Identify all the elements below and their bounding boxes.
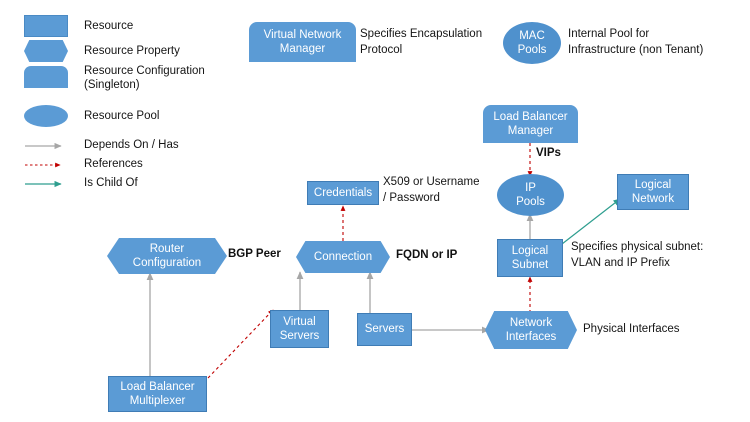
node-credentials[interactable]: Credentials [307, 181, 379, 205]
edge-lb-multiplexer-to-virtual-servers [208, 310, 273, 378]
annotation-credentials: X509 or Username / Password [383, 175, 480, 206]
node-load-balancer-manager[interactable]: Load Balancer Manager [483, 105, 578, 143]
legend-swatch-resource-property [24, 40, 68, 62]
legend-line-is-child-of [24, 177, 68, 189]
legend-item-resource-configuration: Resource Configuration (Singleton) [24, 64, 205, 93]
ellipse-icon [24, 105, 68, 127]
annotation-network-interfaces: Physical Interfaces [583, 322, 680, 338]
node-logical-subnet[interactable]: Logical Subnet [497, 239, 563, 277]
hexagon-icon [24, 40, 68, 62]
legend-swatch-resource [24, 15, 68, 37]
legend-item-is-child-of: Is Child Of [24, 176, 138, 190]
node-logical-network[interactable]: Logical Network [617, 174, 689, 210]
legend-item-resource-pool: Resource Pool [24, 105, 159, 127]
node-router-configuration[interactable]: Router Configuration [107, 238, 227, 274]
legend-label-depends-on: Depends On / Has [84, 138, 179, 152]
edge-label-vips: VIPs [536, 147, 561, 159]
edge-label-bgp-peer: BGP Peer [228, 248, 281, 260]
node-mac-pools[interactable]: MAC Pools [503, 22, 561, 64]
legend-line-depends-on [24, 139, 68, 151]
node-ip-pools[interactable]: IP Pools [497, 174, 564, 216]
node-virtual-network-manager[interactable]: Virtual Network Manager [249, 22, 356, 62]
node-servers[interactable]: Servers [357, 313, 412, 346]
legend-swatch-resource-configuration [24, 66, 68, 88]
legend-item-references: References [24, 157, 143, 171]
legend-label-resource: Resource [84, 19, 133, 33]
legend-item-resource: Resource [24, 15, 133, 37]
arrow-solid-teal-icon [24, 178, 68, 190]
edge-logical-subnet-to-logical-network [562, 199, 620, 244]
legend-line-references [24, 158, 68, 170]
legend-label-is-child-of: Is Child Of [84, 176, 138, 190]
legend-label-resource-property: Resource Property [84, 44, 180, 58]
rectangle-icon [24, 15, 68, 37]
legend-label-resource-pool: Resource Pool [84, 109, 159, 123]
legend-label-references: References [84, 157, 143, 171]
diagram-canvas: Resource Resource Property Resource Conf… [0, 0, 750, 422]
edge-label-fqdn-or-ip: FQDN or IP [396, 249, 457, 261]
legend-label-resource-configuration: Resource Configuration (Singleton) [84, 64, 205, 93]
annotation-encapsulation-protocol: Specifies Encapsulation Protocol [360, 27, 482, 58]
node-network-interfaces[interactable]: Network Interfaces [485, 311, 577, 349]
node-load-balancer-multiplexer[interactable]: Load Balancer Multiplexer [108, 376, 207, 412]
node-connection[interactable]: Connection [296, 241, 390, 273]
legend-item-depends-on: Depends On / Has [24, 138, 179, 152]
annotation-internal-pool: Internal Pool for Infrastructure (non Te… [568, 27, 703, 58]
round-top-rectangle-icon [24, 66, 68, 88]
annotation-logical-subnet: Specifies physical subnet: VLAN and IP P… [571, 240, 703, 271]
node-virtual-servers[interactable]: Virtual Servers [270, 310, 329, 348]
arrow-solid-gray-icon [24, 140, 68, 152]
legend-item-resource-property: Resource Property [24, 40, 180, 62]
arrow-dotted-red-icon [24, 159, 68, 171]
legend-swatch-resource-pool [24, 105, 68, 127]
